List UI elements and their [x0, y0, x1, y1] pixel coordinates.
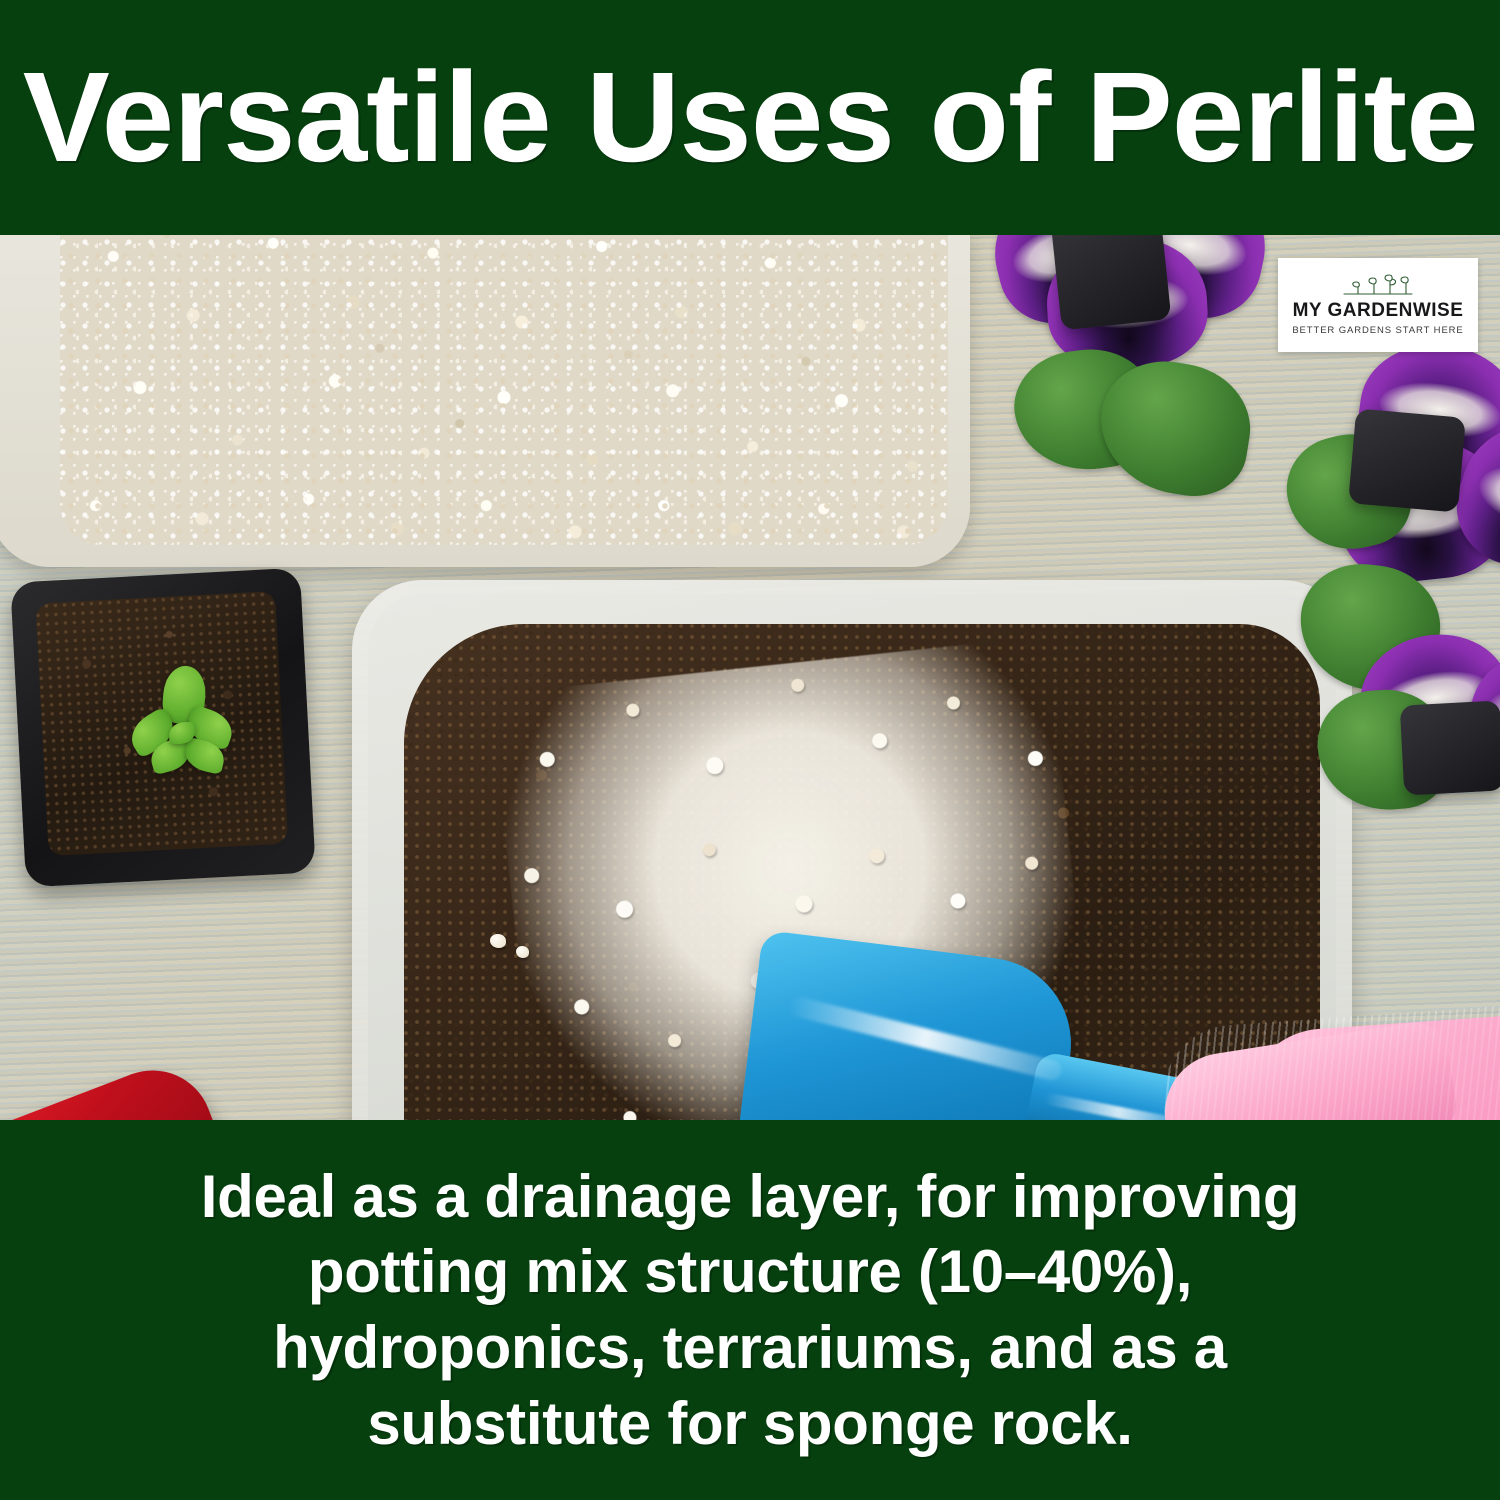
- caption-bar: Ideal as a drainage layer, for improving…: [0, 1120, 1500, 1500]
- perlite-tray-inner: [60, 235, 948, 545]
- seedling-pot-soil: [35, 591, 288, 856]
- perlite-tray: [0, 235, 970, 567]
- perlite-stray-granule: [490, 934, 506, 948]
- logo-tagline: BETTER GARDENS START HERE: [1292, 325, 1463, 336]
- caption-text: Ideal as a drainage layer, for improving…: [201, 1159, 1299, 1461]
- caption-line: Ideal as a drainage layer, for improving: [201, 1159, 1299, 1235]
- seedling-plant: [140, 668, 256, 794]
- photo-panel: MY GARDENWISE BETTER GARDENS START HERE: [0, 235, 1500, 1120]
- page-title: Versatile Uses of Perlite: [23, 54, 1478, 182]
- caption-line: potting mix structure (10–40%),: [201, 1234, 1299, 1310]
- pansy-pot: [1348, 408, 1466, 512]
- pansy-pot: [1400, 700, 1500, 795]
- pansy-pot: [1051, 235, 1172, 330]
- perlite-grain-texture: [60, 235, 948, 545]
- caption-line: hydroponics, terrariums, and as a: [201, 1310, 1299, 1386]
- title-bar: Versatile Uses of Perlite: [0, 0, 1500, 235]
- glove-knit-texture: [1159, 1002, 1500, 1120]
- caption-line: substitute for sponge rock.: [201, 1386, 1299, 1462]
- logo-name: MY GARDENWISE: [1293, 301, 1464, 320]
- three-sprouts-icon: [1340, 274, 1416, 298]
- perlite-stray-granule: [516, 946, 529, 958]
- perlite-infographic-poster: Versatile Uses of Perlite: [0, 0, 1500, 1500]
- brand-logo[interactable]: MY GARDENWISE BETTER GARDENS START HERE: [1278, 258, 1478, 352]
- seedling-pot: [10, 568, 316, 888]
